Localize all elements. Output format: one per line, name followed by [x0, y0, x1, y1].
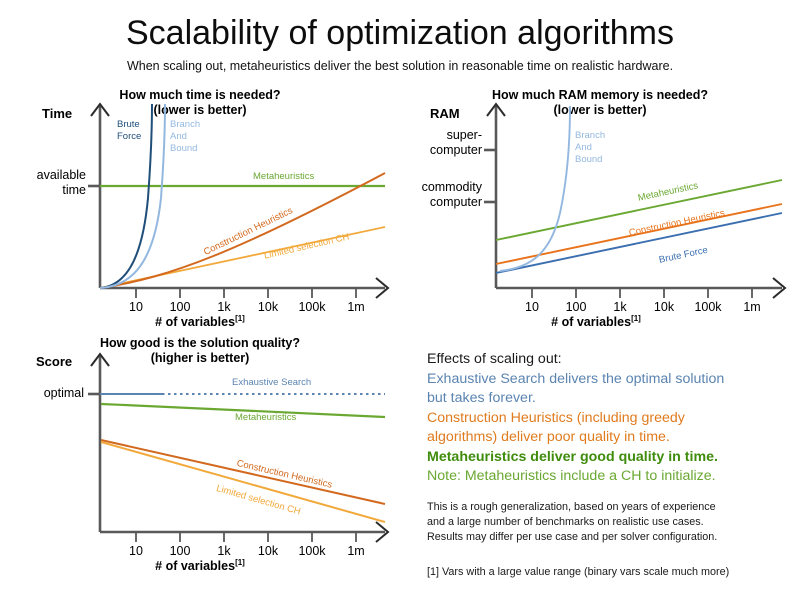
disclaimer: This is a rough generalization, based on… — [427, 500, 800, 545]
chart-score-xtick-5: 1m — [336, 544, 376, 558]
disclaimer-line-2: and a large number of benchmarks on real… — [427, 515, 800, 530]
chart-ram-xaxis-name: # of variables[1] — [396, 314, 796, 329]
page-title: Scalability of optimization algorithms — [0, 14, 800, 53]
chart-time-xticks — [136, 288, 356, 298]
chart-ram-xtick-2: 1k — [600, 300, 640, 314]
chart-time-xtick-3: 10k — [248, 300, 288, 314]
footnote-text: [1] Vars with a large value range (binar… — [427, 566, 800, 578]
chart-ram-xtick-5: 1m — [732, 300, 772, 314]
chart-score-xtick-3: 10k — [248, 544, 288, 558]
footnote-marker: [1] — [235, 314, 245, 323]
chart-ram-yticks — [484, 150, 496, 202]
chart-ram-xtick-4: 100k — [688, 300, 728, 314]
label-branch-and-bound: Branch And Bound — [575, 130, 605, 166]
series-brute-force-line — [496, 213, 782, 273]
chart-ram-xtick-1: 100 — [556, 300, 596, 314]
chart-time-xaxis-name: # of variables[1] — [0, 314, 400, 329]
effects-line-exhaustive-1: Exhaustive Search delivers the optimal s… — [427, 370, 797, 390]
label-metaheuristics: Metaheuristics — [235, 412, 296, 423]
effects-heading: Effects of scaling out: — [427, 350, 797, 370]
disclaimer-line-3: Results may differ per use case and per … — [427, 530, 800, 545]
chart-ram-xtick-0: 10 — [512, 300, 552, 314]
chart-score-xtick-0: 10 — [116, 544, 156, 558]
chart-time: How much time is needed? (lower is bette… — [0, 88, 400, 328]
chart-score: How good is the solution quality? (highe… — [0, 336, 400, 586]
effects-panel: Effects of scaling out: Exhaustive Searc… — [427, 350, 797, 487]
effects-line-note: Note: Metaheuristics include a CH to ini… — [427, 467, 797, 487]
chart-time-xtick-2: 1k — [204, 300, 244, 314]
label-metaheuristics: Metaheuristics — [253, 171, 314, 182]
label-exhaustive-search: Exhaustive Search — [232, 377, 311, 388]
series-limited-selection-ch-line — [101, 442, 385, 522]
effects-line-exhaustive-2: but takes forever. — [427, 389, 797, 409]
effects-line-construction-1: Construction Heuristics (including greed… — [427, 409, 797, 429]
chart-score-xticks — [136, 532, 356, 542]
effects-line-construction-2: algorithms) deliver poor quality in time… — [427, 428, 797, 448]
series-branch-and-bound-line — [500, 106, 570, 271]
chart-score-xaxis-name: # of variables[1] — [0, 558, 400, 573]
footnote-marker: [1] — [235, 558, 245, 567]
chart-time-xtick-1: 100 — [160, 300, 200, 314]
slide-root: Scalability of optimization algorithms W… — [0, 0, 800, 600]
chart-time-xtick-5: 1m — [336, 300, 376, 314]
effects-line-metaheuristics: Metaheuristics deliver good quality in t… — [427, 448, 797, 468]
footnote-marker: [1] — [631, 314, 641, 323]
chart-score-xtick-2: 1k — [204, 544, 244, 558]
chart-ram-xtick-3: 10k — [644, 300, 684, 314]
label-brute-force: Brute Force — [117, 119, 141, 143]
chart-score-xtick-4: 100k — [292, 544, 332, 558]
chart-score-xtick-1: 100 — [160, 544, 200, 558]
chart-time-xtick-4: 100k — [292, 300, 332, 314]
disclaimer-line-1: This is a rough generalization, based on… — [427, 500, 800, 515]
chart-ram-svg — [400, 88, 800, 328]
chart-time-xtick-0: 10 — [116, 300, 156, 314]
chart-ram-xticks — [532, 288, 752, 298]
page-subtitle: When scaling out, metaheuristics deliver… — [0, 59, 800, 73]
label-branch-and-bound: Branch And Bound — [170, 119, 200, 155]
chart-ram: How much RAM memory is needed? (lower is… — [400, 88, 800, 328]
